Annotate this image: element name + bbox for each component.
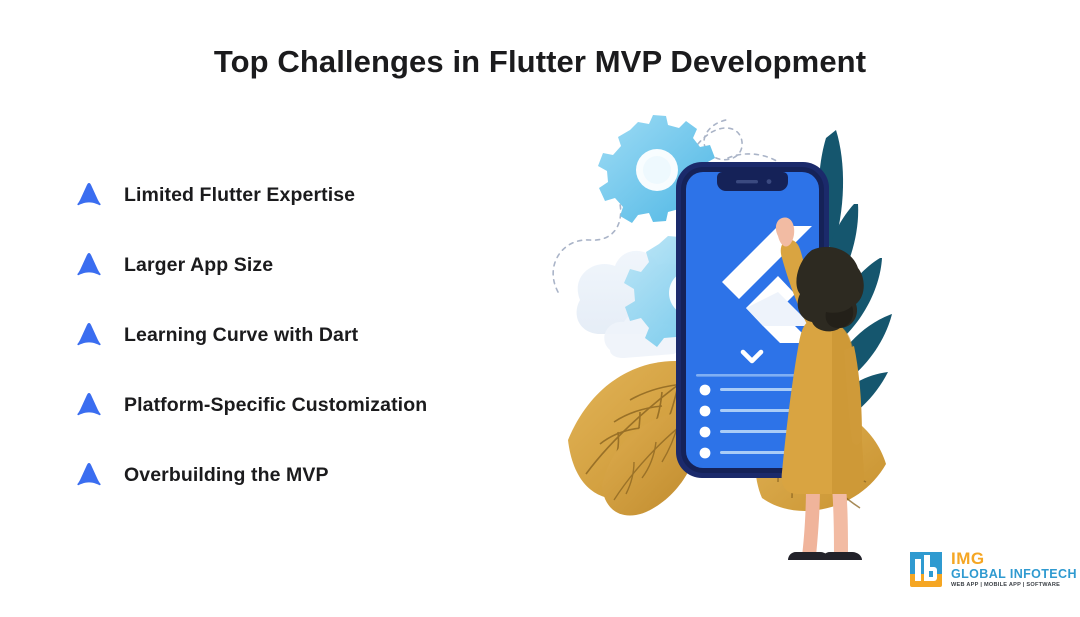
- list-item-label: Overbuilding the MVP: [124, 464, 329, 487]
- phone-camera: [767, 179, 772, 184]
- list-item-label: Platform-Specific Customization: [124, 394, 427, 417]
- logo-primary-text: IMG: [951, 550, 1077, 567]
- brand-logo: IMG GLOBAL INFOTECH WEB APP | MOBILE APP…: [908, 550, 1077, 588]
- blue-arrow-up-icon: [74, 390, 104, 420]
- shoe: [822, 552, 862, 560]
- list-item-label: Limited Flutter Expertise: [124, 184, 355, 207]
- list-item-label: Learning Curve with Dart: [124, 324, 358, 347]
- list-item: Larger App Size: [74, 230, 514, 300]
- phone-home-indicator: [725, 530, 765, 534]
- phone-button: [698, 486, 750, 506]
- phone-divider: [696, 374, 809, 377]
- blue-arrow-up-icon: [74, 180, 104, 210]
- list-item: Platform-Specific Customization: [74, 370, 514, 440]
- slide-canvas: Top Challenges in Flutter MVP Developmen…: [0, 0, 1080, 617]
- blue-arrow-up-icon: [74, 320, 104, 350]
- logo-wordmark: IMG GLOBAL INFOTECH WEB APP | MOBILE APP…: [951, 550, 1077, 588]
- list-item: Limited Flutter Expertise: [74, 160, 514, 230]
- logo-tagline: WEB APP | MOBILE APP | SOFTWARE: [951, 583, 1077, 589]
- flutter-mvp-illustration: [540, 100, 960, 560]
- challenge-list: Limited Flutter Expertise Larger App Siz…: [74, 160, 514, 510]
- logo-secondary-text: GLOBAL INFOTECH: [951, 568, 1077, 581]
- img-global-infotech-logo-mark: [908, 550, 944, 588]
- blue-arrow-up-icon: [74, 250, 104, 280]
- phone-speaker: [736, 180, 758, 183]
- list-item: Learning Curve with Dart: [74, 300, 514, 370]
- list-item-label: Larger App Size: [124, 254, 273, 277]
- page-title: Top Challenges in Flutter MVP Developmen…: [0, 44, 1080, 80]
- blue-arrow-up-icon: [74, 460, 104, 490]
- list-item: Overbuilding the MVP: [74, 440, 514, 510]
